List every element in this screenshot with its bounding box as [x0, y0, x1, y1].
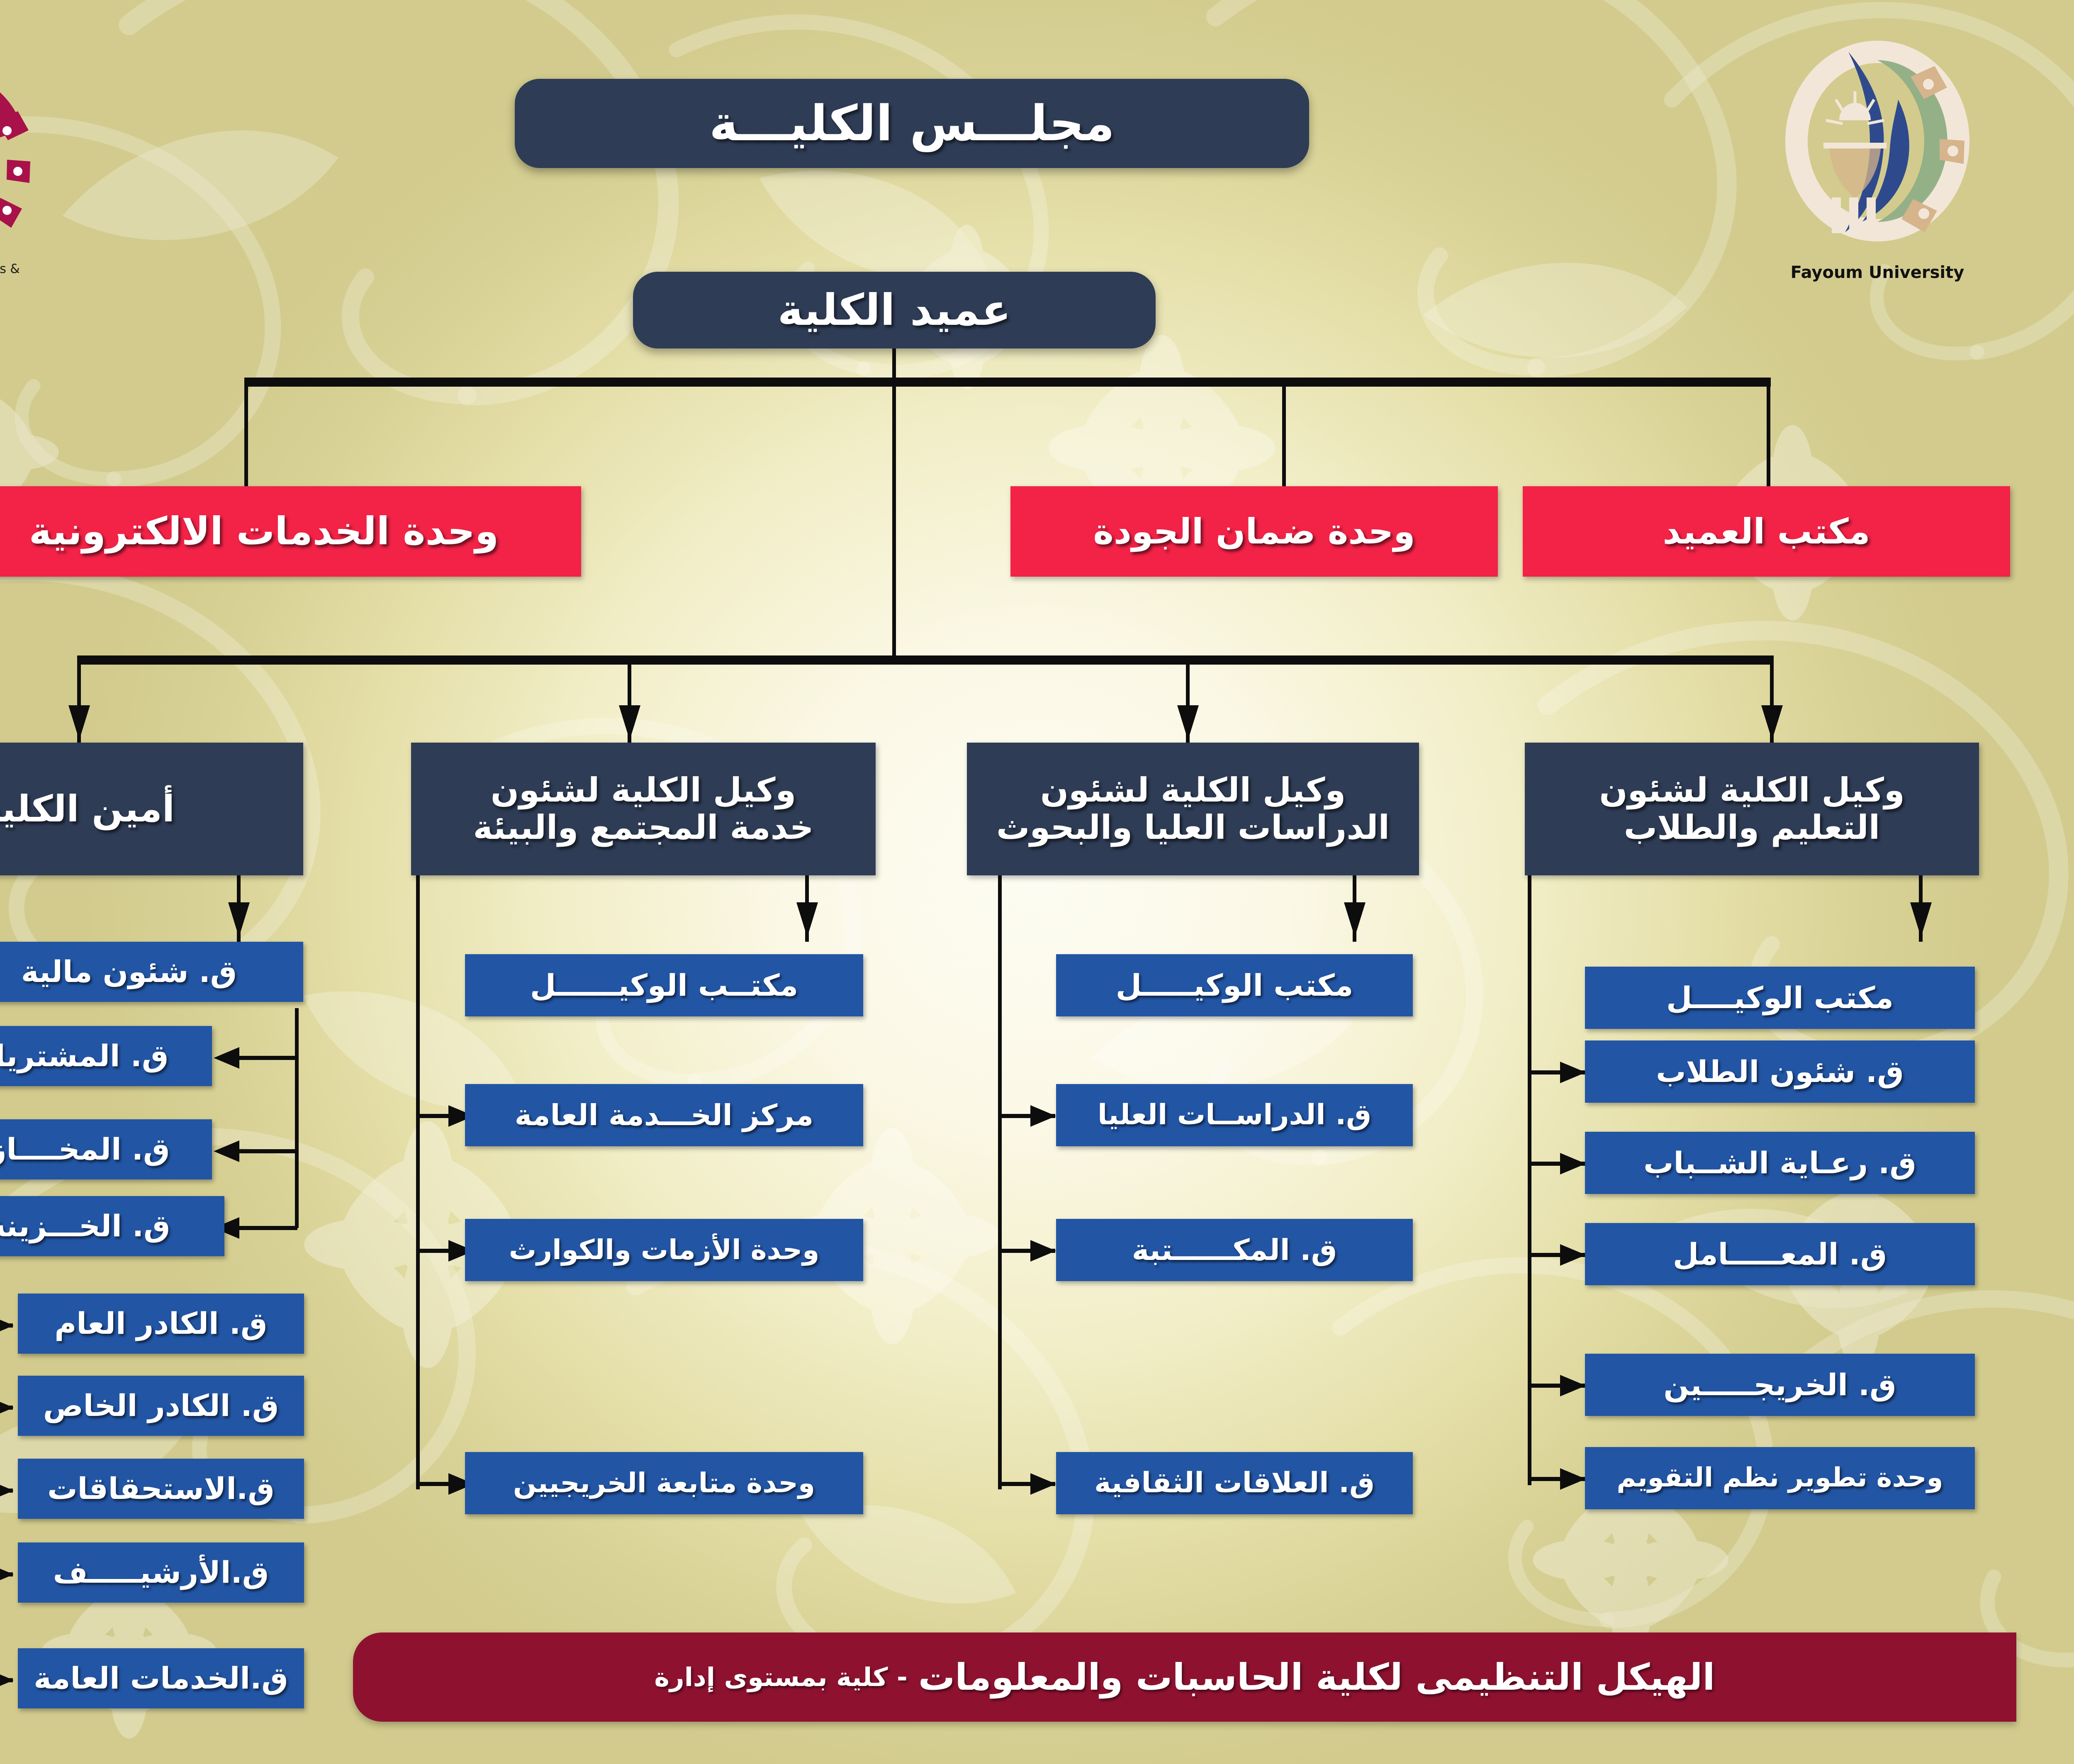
node-c1-general-cadre[interactable]: ق. الكادر العام — [18, 1294, 304, 1354]
node-dean[interactable]: عميد الكلية — [633, 272, 1156, 348]
node-c1-entitlements[interactable]: ق.الاستحقاقات — [18, 1459, 304, 1519]
node-c4-graduates[interactable]: ق. الخريجـــــين — [1585, 1354, 1975, 1416]
connector-col3-left-spine — [998, 875, 1002, 1489]
arrow-c4-item4 — [1560, 1244, 1586, 1266]
arrow-c4-item6 — [1560, 1468, 1586, 1490]
connector-c1-item3 — [239, 1149, 297, 1153]
arrow-col2-first — [796, 902, 818, 937]
node-c2-vicedean-office[interactable]: مكتــب الوكيــــــل — [465, 954, 863, 1016]
arrow-c1-item8 — [0, 1564, 14, 1585]
node-vicedean-education-students[interactable]: وكيل الكلية لشئون التعليم والطلاب — [1525, 743, 1979, 875]
node-c4-youth-welfare[interactable]: ق. رعـاية الشــباب — [1585, 1132, 1975, 1194]
node-c4-laboratories[interactable]: ق. المعـــــامل — [1585, 1223, 1975, 1285]
node-dean-office-unit[interactable]: مكتب العميد — [1523, 486, 2010, 577]
connector-dean-center-spine — [892, 348, 896, 655]
arrow-c3-item2 — [1030, 1105, 1056, 1127]
arrow-c4-item2 — [1560, 1062, 1586, 1083]
connector-col4-left-spine — [1528, 875, 1531, 1485]
node-c1-archive[interactable]: ق.الأرشيـــــف — [18, 1542, 304, 1603]
arrow-c1-item9 — [0, 1669, 14, 1691]
node-c3-library[interactable]: ق. المكــــــتبة — [1056, 1219, 1413, 1281]
arrow-c1-item7 — [0, 1480, 14, 1501]
arrow-c1-item5 — [0, 1315, 14, 1336]
arrow-to-col3-head — [1177, 705, 1199, 740]
footer-subtitle: - كلية بمستوى إدارة — [654, 1662, 907, 1692]
arrow-to-col2-head — [619, 705, 640, 740]
connector-c1-item4 — [239, 1226, 297, 1230]
node-c2-alumni-followup-unit[interactable]: وحدة متابعة الخريجيين — [465, 1452, 863, 1514]
arrow-to-col4-head — [1761, 705, 1783, 740]
node-c1-general-services[interactable]: ق.الخدمات العامة — [18, 1648, 304, 1708]
node-college-secretary[interactable]: أمين الكلية — [0, 743, 303, 875]
arrow-to-col1-head — [68, 705, 90, 740]
footer-banner: الهيكل التنظيمى لكلية الحاسبات والمعلوما… — [353, 1632, 2016, 1722]
node-c1-financial-affairs[interactable]: ق. شئون مالية — [0, 942, 303, 1002]
arrow-col1-first — [228, 902, 250, 937]
node-c1-treasury[interactable]: ق. الخـــزينة — [0, 1196, 224, 1256]
arrow-c3-item3 — [1030, 1240, 1056, 1262]
connector-vicedean-bus — [77, 655, 1774, 665]
node-c4-assessment-dev-unit[interactable]: وحدة تطوير نظم التقويم — [1585, 1447, 1975, 1509]
node-c3-vicedean-office[interactable]: مكتب الوكيـــــل — [1056, 954, 1413, 1016]
arrow-c1-item3 — [214, 1140, 239, 1162]
node-c3-graduate-studies[interactable]: ق. الدراســات العليا — [1056, 1084, 1413, 1146]
arrow-col3-first — [1344, 902, 1366, 937]
connector-col2-left-spine — [416, 875, 420, 1489]
connector-c1-item2 — [239, 1056, 297, 1060]
faculty-logo-caption: faculty of computers & information — [0, 262, 38, 291]
connector-dean-bus — [244, 378, 1771, 387]
node-c1-special-cadre[interactable]: ق. الكادر الخاص — [18, 1376, 304, 1436]
university-logo-caption: Fayoum University — [1774, 263, 1981, 282]
arrow-c3-item4 — [1030, 1473, 1056, 1495]
university-logo: Fayoum University — [1774, 37, 1981, 286]
connector-col1-right-spine — [295, 1008, 299, 1228]
faculty-logo: faculty of computers & information — [0, 64, 38, 288]
footer-title: الهيكل التنظيمى لكلية الحاسبات والمعلوما… — [918, 1656, 1715, 1698]
node-electronic-services-unit[interactable]: وحدة الخدمات الالكترونية — [0, 486, 581, 577]
arrow-c1-item6 — [0, 1397, 14, 1418]
node-c2-crisis-disaster-unit[interactable]: وحدة الأزمات والكوارث — [465, 1219, 863, 1281]
arrow-col4-first — [1910, 902, 1932, 937]
node-c4-student-affairs[interactable]: ق. شئون الطلاب — [1585, 1040, 1975, 1103]
node-vicedean-community-env[interactable]: وكيل الكلية لشئون خدمة المجتمع والبيئة — [411, 743, 876, 875]
node-vicedean-graduate-research[interactable]: وكيل الكلية لشئون الدراسات العليا والبحو… — [967, 743, 1419, 875]
node-quality-assurance-unit[interactable]: وحدة ضمان الجودة — [1010, 486, 1498, 577]
arrow-c4-item3 — [1560, 1153, 1586, 1174]
arrow-c1-item2 — [214, 1047, 239, 1069]
node-c1-warehouses[interactable]: ق. المخــــازن — [0, 1119, 212, 1179]
node-c4-vicedean-office[interactable]: مكتب الوكيــــل — [1585, 967, 1975, 1029]
node-college-council[interactable]: مجلـــس الكليـــة — [515, 79, 1309, 168]
arrow-c4-item5 — [1560, 1375, 1586, 1396]
node-c2-public-service-center[interactable]: مركز الخـــدمة العامة — [465, 1084, 863, 1146]
node-c3-cultural-relations[interactable]: ق. العلاقات الثقافية — [1056, 1452, 1413, 1514]
node-c1-purchases[interactable]: ق. المشتريات — [0, 1026, 212, 1086]
